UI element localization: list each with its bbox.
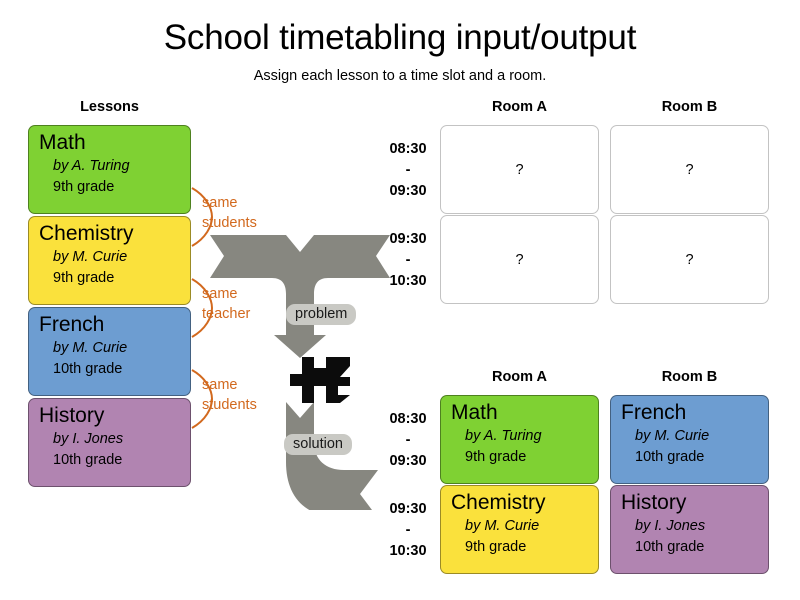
lesson-subject: French	[611, 400, 768, 426]
lesson-card[interactable]: History by I. Jones 10th grade	[28, 398, 191, 487]
lesson-subject: Chemistry	[29, 221, 190, 247]
lesson-card[interactable]: Chemistry by M. Curie 9th grade	[28, 216, 191, 305]
lesson-subject: Math	[29, 130, 190, 156]
timeslot-start: 09:30	[376, 229, 440, 250]
timeslot-start: 08:30	[376, 409, 440, 430]
timeslot-start: 08:30	[376, 139, 440, 160]
lesson-card[interactable]: French by M. Curie 10th grade	[28, 307, 191, 396]
output-room-a-header: Room A	[440, 369, 599, 385]
timeslot-dash: -	[376, 520, 440, 541]
timeslot-end: 09:30	[376, 181, 440, 202]
lesson-grade: 9th grade	[29, 268, 190, 289]
empty-slot[interactable]: ?	[610, 125, 769, 214]
lesson-teacher: by A. Turing	[29, 156, 190, 177]
empty-slot[interactable]: ?	[440, 125, 599, 214]
timeslot-end: 10:30	[376, 541, 440, 562]
page-subtitle: Assign each lesson to a time slot and a …	[0, 68, 800, 84]
lesson-grade: 10th grade	[29, 359, 190, 380]
timeslot-end: 09:30	[376, 451, 440, 472]
timefold-logo	[288, 357, 352, 403]
input-room-b-header: Room B	[610, 99, 769, 115]
timeslot-dash: -	[376, 160, 440, 181]
lesson-teacher: by I. Jones	[611, 516, 768, 537]
lesson-grade: 10th grade	[29, 450, 190, 471]
constraint-label-line1: same	[202, 193, 282, 213]
empty-slot[interactable]: ?	[440, 215, 599, 304]
page-title: School timetabling input/output	[0, 16, 800, 60]
scheduled-lesson-card[interactable]: French by M. Curie 10th grade	[610, 395, 769, 484]
output-timeslot-label: 08:30 - 09:30	[376, 409, 440, 472]
scheduled-lesson-card[interactable]: Chemistry by M. Curie 9th grade	[440, 485, 599, 574]
lesson-grade: 9th grade	[441, 537, 598, 558]
lesson-teacher: by I. Jones	[29, 429, 190, 450]
input-room-a-header: Room A	[440, 99, 599, 115]
lesson-teacher: by M. Curie	[29, 247, 190, 268]
scheduled-lesson-card[interactable]: History by I. Jones 10th grade	[610, 485, 769, 574]
output-timeslot-label: 09:30 - 10:30	[376, 499, 440, 562]
lesson-subject: History	[611, 490, 768, 516]
lesson-subject: French	[29, 312, 190, 338]
lesson-grade: 10th grade	[611, 537, 768, 558]
lesson-teacher: by A. Turing	[441, 426, 598, 447]
constraint-label: same students	[202, 193, 282, 233]
output-room-b-header: Room B	[610, 369, 769, 385]
solution-label: solution	[284, 434, 352, 455]
problem-arrow-icon	[210, 235, 390, 358]
diagram-canvas: School timetabling input/output Assign e…	[0, 0, 800, 600]
solution-arrow-icon	[286, 402, 378, 510]
lesson-teacher: by M. Curie	[611, 426, 768, 447]
timeslot-start: 09:30	[376, 499, 440, 520]
empty-slot[interactable]: ?	[610, 215, 769, 304]
input-timeslot-label: 08:30 - 09:30	[376, 139, 440, 202]
lesson-card[interactable]: Math by A. Turing 9th grade	[28, 125, 191, 214]
lesson-subject: Math	[441, 400, 598, 426]
timeslot-dash: -	[376, 250, 440, 271]
lessons-column-header: Lessons	[28, 99, 191, 115]
lesson-grade: 9th grade	[441, 447, 598, 468]
lesson-grade: 9th grade	[29, 177, 190, 198]
problem-label: problem	[286, 304, 356, 325]
lesson-subject: Chemistry	[441, 490, 598, 516]
lesson-teacher: by M. Curie	[441, 516, 598, 537]
lesson-teacher: by M. Curie	[29, 338, 190, 359]
lesson-subject: History	[29, 403, 190, 429]
input-timeslot-label: 09:30 - 10:30	[376, 229, 440, 292]
scheduled-lesson-card[interactable]: Math by A. Turing 9th grade	[440, 395, 599, 484]
timeslot-end: 10:30	[376, 271, 440, 292]
lesson-grade: 10th grade	[611, 447, 768, 468]
timeslot-dash: -	[376, 430, 440, 451]
